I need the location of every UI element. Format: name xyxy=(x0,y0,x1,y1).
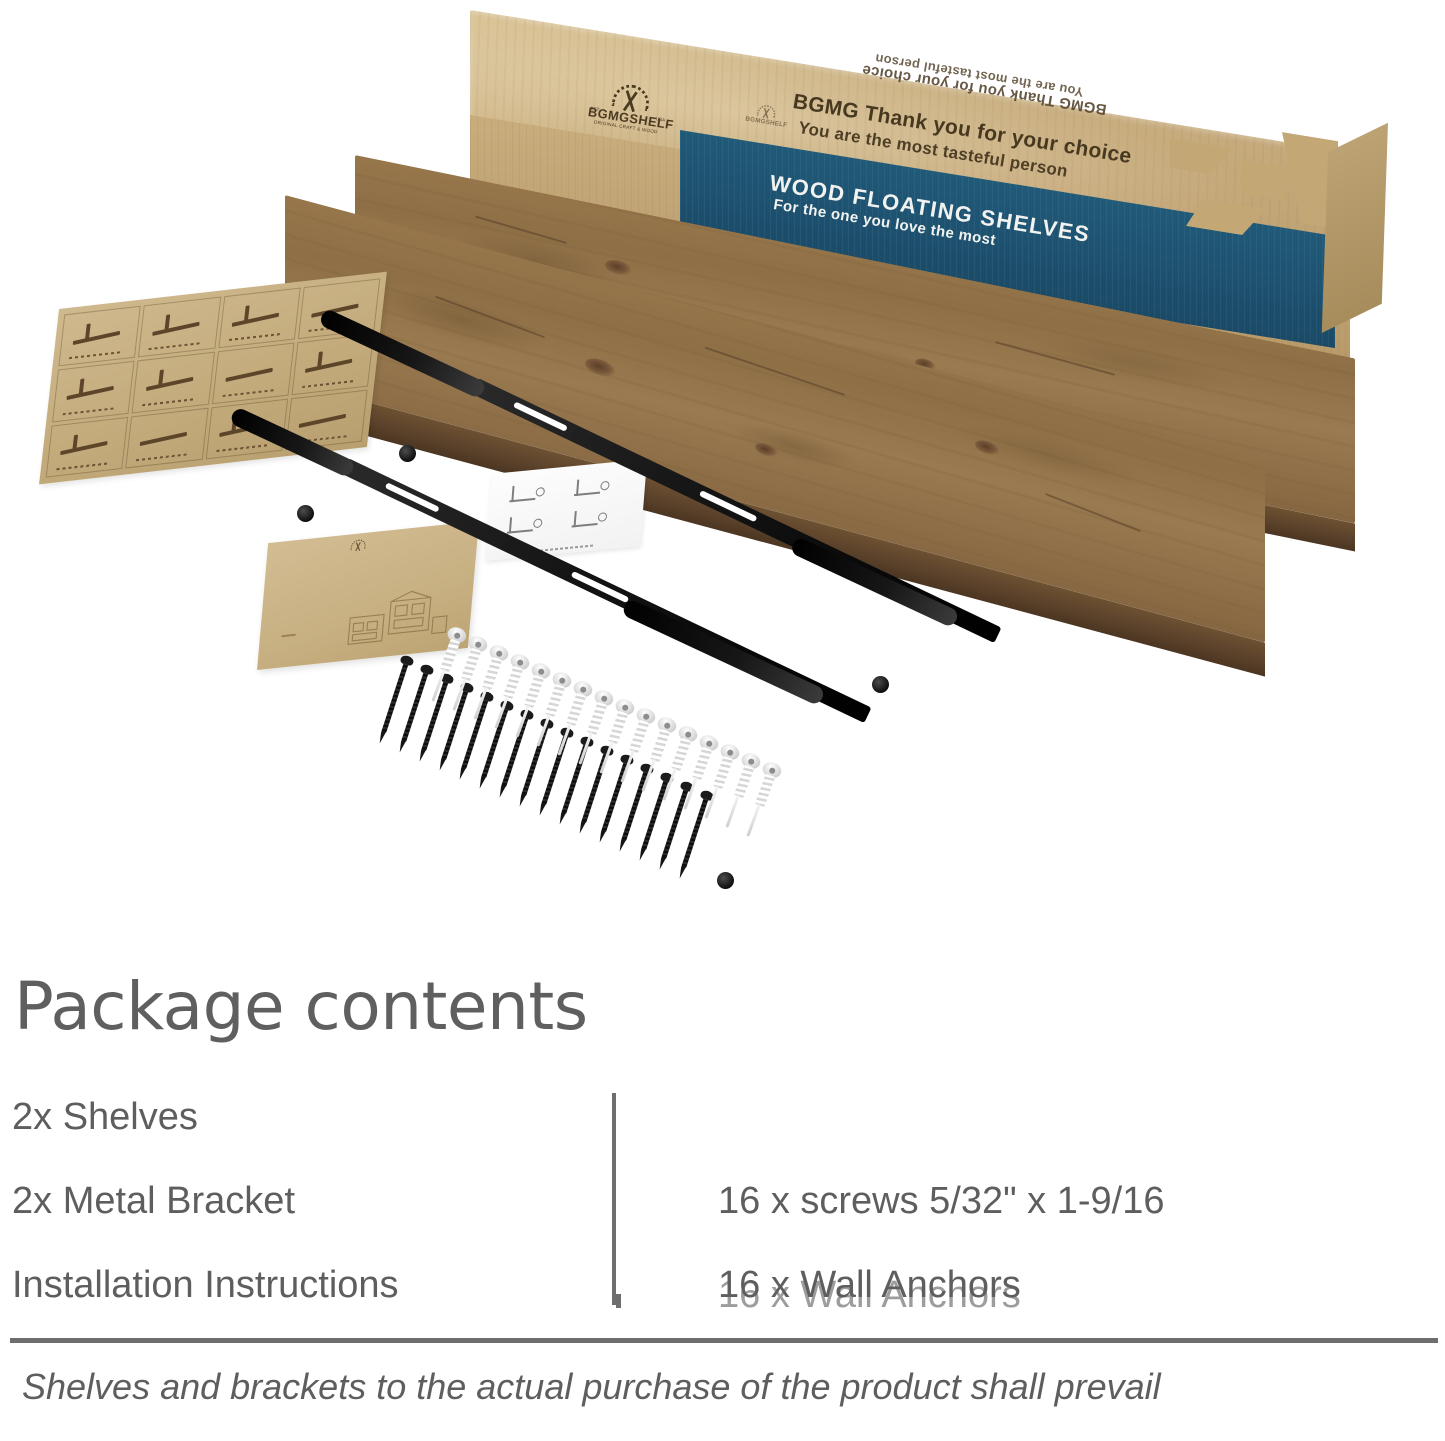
instruction-diagram-grid xyxy=(46,278,381,477)
instruction-cell xyxy=(52,361,135,422)
content-item-instructions: Installation Instructions xyxy=(12,1264,399,1307)
bracket-support-rod xyxy=(621,598,826,706)
bracket-rod-end-cap xyxy=(717,872,734,889)
bracket-slot xyxy=(385,482,440,512)
bgmgshelf-logo-icon-small: BGMGSHELF xyxy=(744,102,787,136)
box-end-panel xyxy=(1322,123,1388,333)
footer-note: Shelves and brackets to the actual purch… xyxy=(22,1366,1161,1408)
product-photo: EST. USA BGMGSHELF ORIGINAL CRAFT & WOOD… xyxy=(0,0,1445,950)
envelope-tick-mark xyxy=(282,634,296,637)
instruction-cell xyxy=(46,416,129,477)
content-item-shelves: 2x Shelves xyxy=(12,1096,198,1139)
footer-divider xyxy=(10,1338,1438,1343)
instruction-cell xyxy=(125,407,208,468)
content-item-anchors: 16 x Wall Anchors xyxy=(718,1264,1021,1307)
instruction-cell xyxy=(138,297,221,358)
column-divider xyxy=(612,1093,616,1305)
bracket-slot xyxy=(571,571,630,603)
card-figure xyxy=(567,504,628,535)
card-figure xyxy=(505,479,566,510)
logo-wordmark: BGMGSHELF xyxy=(745,115,784,128)
card-figure xyxy=(569,473,630,504)
package-contents-panel: Package contents 2x Shelves 2x Metal Bra… xyxy=(0,950,1445,1441)
instruction-cell xyxy=(218,288,301,349)
bgmgshelf-logo-icon: EST. USA BGMGSHELF ORIGINAL CRAFT & WOOD xyxy=(584,79,671,148)
bracket-rod-end-cap xyxy=(297,505,314,522)
instruction-cell xyxy=(58,306,141,367)
column-divider-tick xyxy=(616,1294,621,1308)
page-title: Package contents xyxy=(14,968,588,1045)
envelope-illustration-icon xyxy=(343,585,455,653)
envelope-logo-icon xyxy=(340,538,375,565)
bracket-rod-end-cap xyxy=(872,676,889,693)
card-diagram-grid xyxy=(502,473,630,542)
bracket-rod-end-cap xyxy=(399,445,416,462)
instruction-cell xyxy=(132,352,215,413)
content-item-screws: 16 x screws 5/32" x 1-9/16 xyxy=(718,1180,1164,1223)
content-item-bracket: 2x Metal Bracket xyxy=(12,1180,295,1223)
instruction-cell xyxy=(212,343,295,404)
